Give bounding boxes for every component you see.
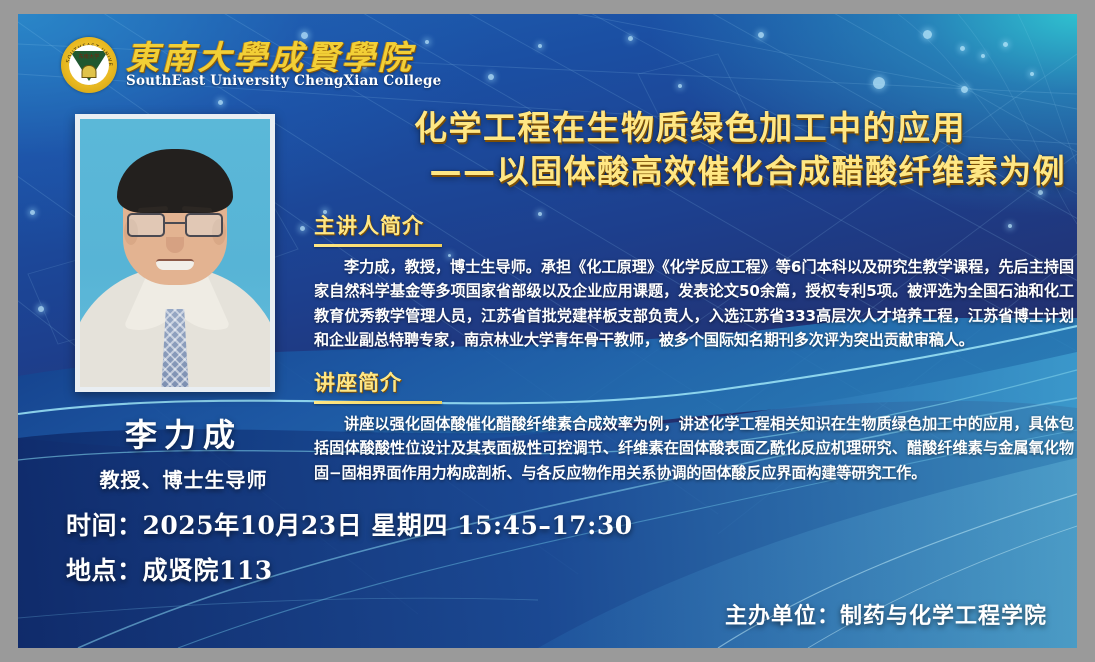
section-heading-speaker: 主讲人简介 bbox=[314, 210, 1074, 240]
seal-center-text: 东南大学 bbox=[79, 53, 100, 60]
seal-inner-emblem: 东南大学 bbox=[69, 45, 109, 85]
title-line-1: 化学工程在生物质绿色加工中的应用 bbox=[314, 106, 1066, 150]
glasses-lens-left bbox=[127, 213, 165, 237]
speaker-photo-frame bbox=[75, 114, 275, 392]
poster-title: 化学工程在生物质绿色加工中的应用 ——以固体酸高效催化合成醋酸纤维素为例 bbox=[314, 106, 1066, 192]
poster-canvas: SOUTHEAST UNIVERSITY • 1902 • 东南大学 東南大學成… bbox=[18, 14, 1077, 648]
section-body-speaker: 李力成，教授，博士生导师。承担《化工原理》《化学反应工程》等6门本科以及研究生教… bbox=[314, 255, 1074, 353]
event-details: 时间：2025年10月23日 星期四 15:45–17:30 地点：成贤院113 bbox=[66, 506, 633, 596]
logo-wordmark: 東南大學成賢學院 SouthEast University ChengXian … bbox=[126, 41, 441, 90]
speaker-title: 教授、博士生导师 bbox=[75, 464, 292, 493]
seal-gate-icon bbox=[82, 65, 97, 78]
section-speaker-bio: 主讲人简介 李力成，教授，博士生导师。承担《化工原理》《化学反应工程》等6门本科… bbox=[314, 210, 1074, 353]
speaker-portrait-photo bbox=[80, 119, 270, 387]
glasses-lens-right bbox=[185, 213, 223, 237]
logo-english-name: SouthEast University ChengXian College bbox=[126, 73, 441, 89]
portrait-glasses-icon bbox=[127, 213, 223, 237]
portrait-necktie bbox=[162, 309, 189, 387]
university-logo: SOUTHEAST UNIVERSITY • 1902 • 东南大学 東南大學成… bbox=[61, 34, 441, 96]
event-time: 时间：2025年10月23日 星期四 15:45–17:30 bbox=[66, 506, 633, 542]
section-spacer bbox=[314, 353, 1074, 367]
section-underline-lecture bbox=[314, 401, 442, 404]
glasses-bridge bbox=[165, 222, 185, 224]
portrait-mouth bbox=[156, 259, 194, 270]
poster-content: 主讲人简介 李力成，教授，博士生导师。承担《化工原理》《化学反应工程》等6门本科… bbox=[314, 210, 1074, 485]
speaker-block: 李力成 教授、博士生导师 bbox=[75, 114, 292, 493]
section-underline-speaker bbox=[314, 244, 442, 247]
portrait-hair bbox=[117, 149, 233, 213]
event-organizer: 主办单位：制药与化学工程学院 bbox=[725, 598, 1047, 630]
event-location: 地点：成贤院113 bbox=[66, 551, 633, 587]
section-heading-lecture: 讲座简介 bbox=[314, 367, 1074, 397]
section-body-lecture: 讲座以强化固体酸催化醋酸纤维素合成效率为例，讲述化学工程相关知识在生物质绿色加工… bbox=[314, 412, 1074, 485]
logo-chinese-name: 東南大學成賢學院 bbox=[126, 41, 441, 76]
university-seal-icon: SOUTHEAST UNIVERSITY • 1902 • 东南大学 bbox=[61, 37, 117, 93]
title-line-2: ——以固体酸高效催化合成醋酸纤维素为例 bbox=[314, 150, 1066, 192]
section-lecture-intro: 讲座简介 讲座以强化固体酸催化醋酸纤维素合成效率为例，讲述化学工程相关知识在生物… bbox=[314, 367, 1074, 485]
speaker-name: 李力成 bbox=[75, 410, 292, 456]
